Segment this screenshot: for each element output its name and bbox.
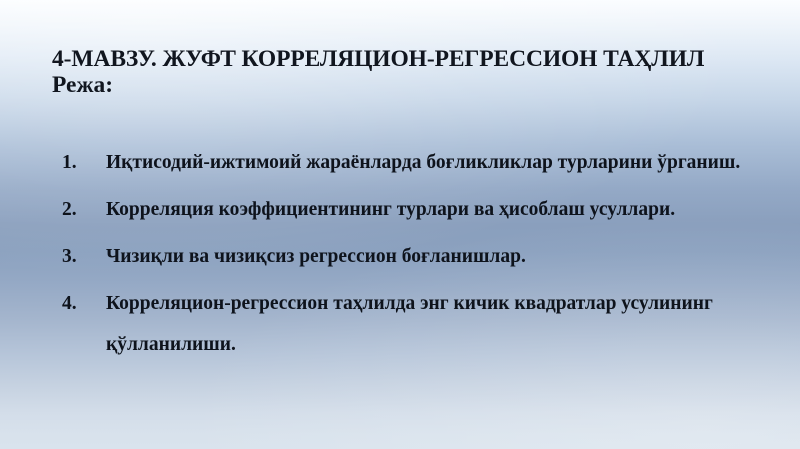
slide-title: 4-МАВЗУ. ЖУФТ КОРРЕЛЯЦИОН-РЕГРЕССИОН ТАҲ… [52, 46, 768, 72]
plan-item-text: Корреляцион-регрессион таҳлилда энг кичи… [106, 283, 762, 365]
slide-subtitle-reja: Режа: [52, 72, 768, 99]
presentation-slide: 4-МАВЗУ. ЖУФТ КОРРЕЛЯЦИОН-РЕГРЕССИОН ТАҲ… [0, 0, 800, 449]
plan-item-text: Чизиқли ва чизиқсиз регрессион боғланишл… [106, 236, 762, 277]
plan-item-number: 1. [62, 142, 88, 183]
plan-list-item: 3. Чизиқли ва чизиқсиз регрессион боғлан… [62, 236, 762, 277]
plan-list-item: 4. Корреляцион-регрессион таҳлилда энг к… [62, 283, 762, 365]
plan-list: 1. Иқтисодий-ижтимоий жараёнларда боғлик… [62, 142, 762, 371]
plan-item-number: 4. [62, 283, 88, 324]
plan-item-text: Иқтисодий-ижтимоий жараёнларда боғликлик… [106, 142, 762, 183]
plan-item-text: Корреляция коэффициентининг турлари ва ҳ… [106, 189, 762, 230]
plan-item-number: 2. [62, 189, 88, 230]
plan-list-item: 1. Иқтисодий-ижтимоий жараёнларда боғлик… [62, 142, 762, 183]
plan-item-number: 3. [62, 236, 88, 277]
slide-content: 4-МАВЗУ. ЖУФТ КОРРЕЛЯЦИОН-РЕГРЕССИОН ТАҲ… [0, 0, 800, 449]
slide-title-block: 4-МАВЗУ. ЖУФТ КОРРЕЛЯЦИОН-РЕГРЕССИОН ТАҲ… [52, 46, 768, 99]
plan-list-item: 2. Корреляция коэффициентининг турлари в… [62, 189, 762, 230]
